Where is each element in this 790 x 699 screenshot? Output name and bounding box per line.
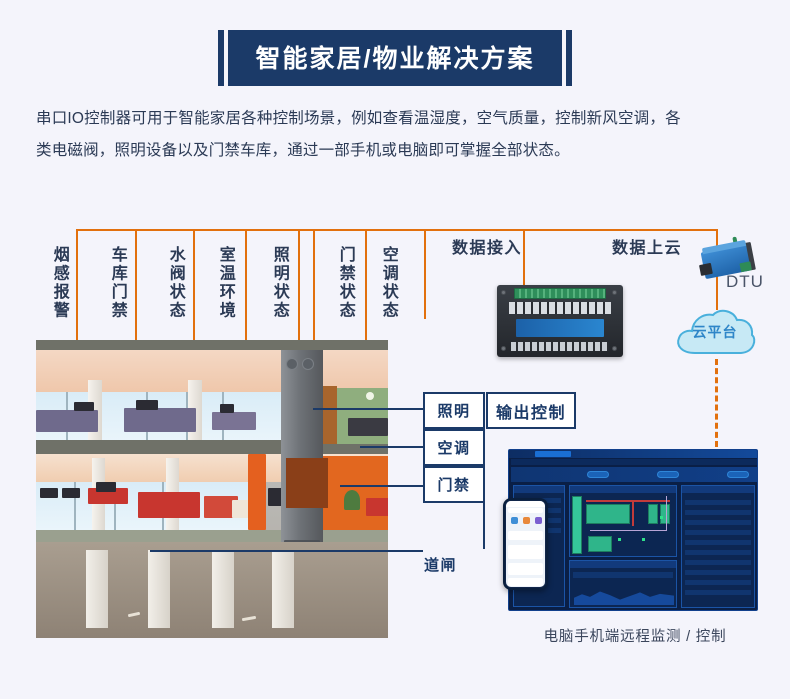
building-cross-section-image: [36, 340, 388, 638]
building-slab-top: [36, 340, 388, 350]
dashboard-nav-pill-3: [727, 471, 749, 478]
connector-line-9: [523, 229, 525, 285]
log-row: [685, 560, 751, 565]
cloud-platform-label: 云平台: [673, 322, 757, 342]
log-row: [685, 550, 751, 555]
phone-icon-orange: [523, 517, 530, 524]
building-orange-wall: [248, 454, 266, 530]
building-pillar: [272, 550, 294, 628]
mimic-status-dot: [660, 516, 663, 519]
panel-header: [570, 561, 676, 568]
sensor-label-smoke: 烟感报警: [50, 246, 67, 320]
elevator-fan-2: [302, 358, 314, 370]
io-brand-panel: [516, 319, 604, 337]
page-title-wrap: 智能家居/物业解决方案: [0, 30, 790, 86]
log-row: [685, 510, 751, 515]
mimic-pipe-purple: [666, 496, 667, 531]
building-monitor: [40, 488, 58, 498]
mimic-pipe-red: [586, 500, 670, 502]
building-pillar: [86, 550, 108, 628]
building-sofa: [366, 498, 388, 516]
phone-status-bar: [506, 501, 545, 507]
dtu-serial-port: [699, 263, 713, 276]
dashboard-right-panel: [681, 485, 755, 608]
navy-leader-gate: [150, 550, 423, 552]
mimic-tank-3: [660, 504, 670, 524]
phone-quick-row: [508, 531, 543, 540]
dtu-label: DTU: [726, 272, 764, 292]
mimic-tank-1: [586, 504, 630, 524]
dashboard-nav-pill-2: [657, 471, 679, 478]
log-row: [685, 530, 751, 535]
building-furniture: [124, 408, 196, 432]
barrier-gate-label: 道闸: [424, 554, 457, 575]
phone-icon-purple: [535, 517, 542, 524]
phone-section-list: [508, 563, 543, 575]
intro-paragraph: 串口IO控制器可用于智能家居各种控制场景，例如查看温湿度，空气质量，控制新风空调…: [36, 103, 760, 167]
dashboard-mimic-panel: [569, 485, 677, 557]
page-title: 智能家居/物业解决方案: [224, 30, 567, 86]
building-monitor: [220, 404, 234, 413]
output-item-lighting[interactable]: 照明: [423, 392, 485, 429]
dashboard-header: [511, 467, 757, 482]
building-monitor: [136, 400, 158, 410]
mimic-tank-4: [588, 536, 612, 552]
building-furniture: [138, 492, 200, 518]
label-data-access: 数据接入: [452, 234, 522, 258]
io-screw-tl: [501, 290, 506, 295]
building-monitor: [74, 402, 94, 411]
building-monitor: [268, 488, 282, 506]
connector-rail-right: [523, 229, 717, 231]
panel-header: [570, 486, 676, 493]
navy-leader-hvac: [360, 446, 423, 448]
elevator-fan-1: [286, 358, 298, 370]
building-pillar: [212, 550, 234, 628]
building-cabinet: [286, 458, 328, 508]
dashboard-caption: 电脑手机端远程监测 / 控制: [505, 625, 765, 646]
mimic-pipe-purple: [590, 530, 666, 531]
mobile-phone-mockup: [503, 498, 548, 590]
sensor-label-garage: 车库门禁: [108, 246, 125, 320]
phone-app-header: [508, 508, 543, 513]
io-screw-bl: [501, 346, 506, 351]
log-row: [685, 540, 751, 545]
intro-line-2: 类电磁阀，照明设备以及门禁车库，通过一部手机或电脑即可掌握全部状态。: [36, 135, 760, 167]
output-control-title[interactable]: 输出控制: [486, 392, 576, 429]
io-relay-row: [509, 302, 611, 314]
log-row: [685, 500, 751, 505]
connector-line-8: [424, 229, 426, 319]
output-stack-tail: [483, 503, 485, 549]
trend-area-chart: [574, 587, 674, 605]
output-item-hvac[interactable]: 空调: [423, 429, 485, 466]
wall-lamp: [366, 392, 374, 400]
building-monitor: [96, 482, 116, 492]
io-screw-tr: [612, 290, 617, 295]
navy-leader-access: [340, 485, 423, 487]
trend-toolbar: [573, 572, 673, 578]
panel-header: [682, 486, 754, 493]
intro-line-1: 串口IO控制器可用于智能家居各种控制场景，例如查看温湿度，空气质量，控制新风空调…: [36, 103, 760, 135]
building-door-wood: [323, 386, 337, 444]
panel-header: [514, 486, 564, 493]
io-screw-br: [612, 346, 617, 351]
io-terminal-block: [514, 288, 606, 299]
building-furniture: [348, 418, 388, 436]
log-row: [685, 580, 751, 585]
log-row: [685, 570, 751, 575]
sensor-label-access: 门禁状态: [336, 246, 353, 320]
cloud-to-dashboard-line: [715, 359, 718, 447]
sensor-label-lighting: 照明状态: [270, 246, 287, 320]
mimic-vertical-bar: [572, 496, 582, 554]
phone-icon-blue: [511, 517, 518, 524]
log-row: [685, 520, 751, 525]
log-row: [685, 590, 751, 595]
dashboard-browser-tab: [535, 451, 571, 457]
io-bottom-connectors: [511, 342, 609, 351]
sensor-label-temperature: 室温环境: [216, 246, 233, 320]
io-controller-device: [497, 285, 623, 357]
mimic-pipe-red: [632, 500, 634, 526]
building-pillar: [148, 550, 170, 628]
title-outer-frame: 智能家居/物业解决方案: [221, 30, 570, 86]
infographic-page: 智能家居/物业解决方案 串口IO控制器可用于智能家居各种控制场景，例如查看温湿度…: [0, 0, 790, 699]
dtu-power-terminal: [739, 261, 752, 272]
mimic-status-dot: [642, 538, 645, 541]
sensor-label-hvac: 空调状态: [379, 246, 396, 320]
building-furniture: [36, 410, 98, 432]
dashboard-address-bar: [511, 459, 757, 465]
navy-leader-lighting: [313, 408, 423, 410]
building-slab-low: [36, 530, 388, 542]
mimic-status-dot: [618, 538, 621, 541]
phone-section-grid: [508, 545, 543, 559]
output-item-access[interactable]: 门禁: [423, 466, 485, 503]
sensor-label-valve: 水阀状态: [166, 246, 183, 320]
label-data-to-cloud: 数据上云: [612, 234, 682, 258]
building-furniture: [212, 412, 256, 430]
dashboard-trend-panel: [569, 560, 677, 608]
dashboard-nav-pill-1: [587, 471, 609, 478]
phone-screen: [506, 501, 545, 587]
building-plant: [344, 490, 360, 510]
phone-tabbar: [508, 578, 543, 586]
building-monitor: [62, 488, 80, 498]
mimic-tank-2: [648, 504, 658, 524]
